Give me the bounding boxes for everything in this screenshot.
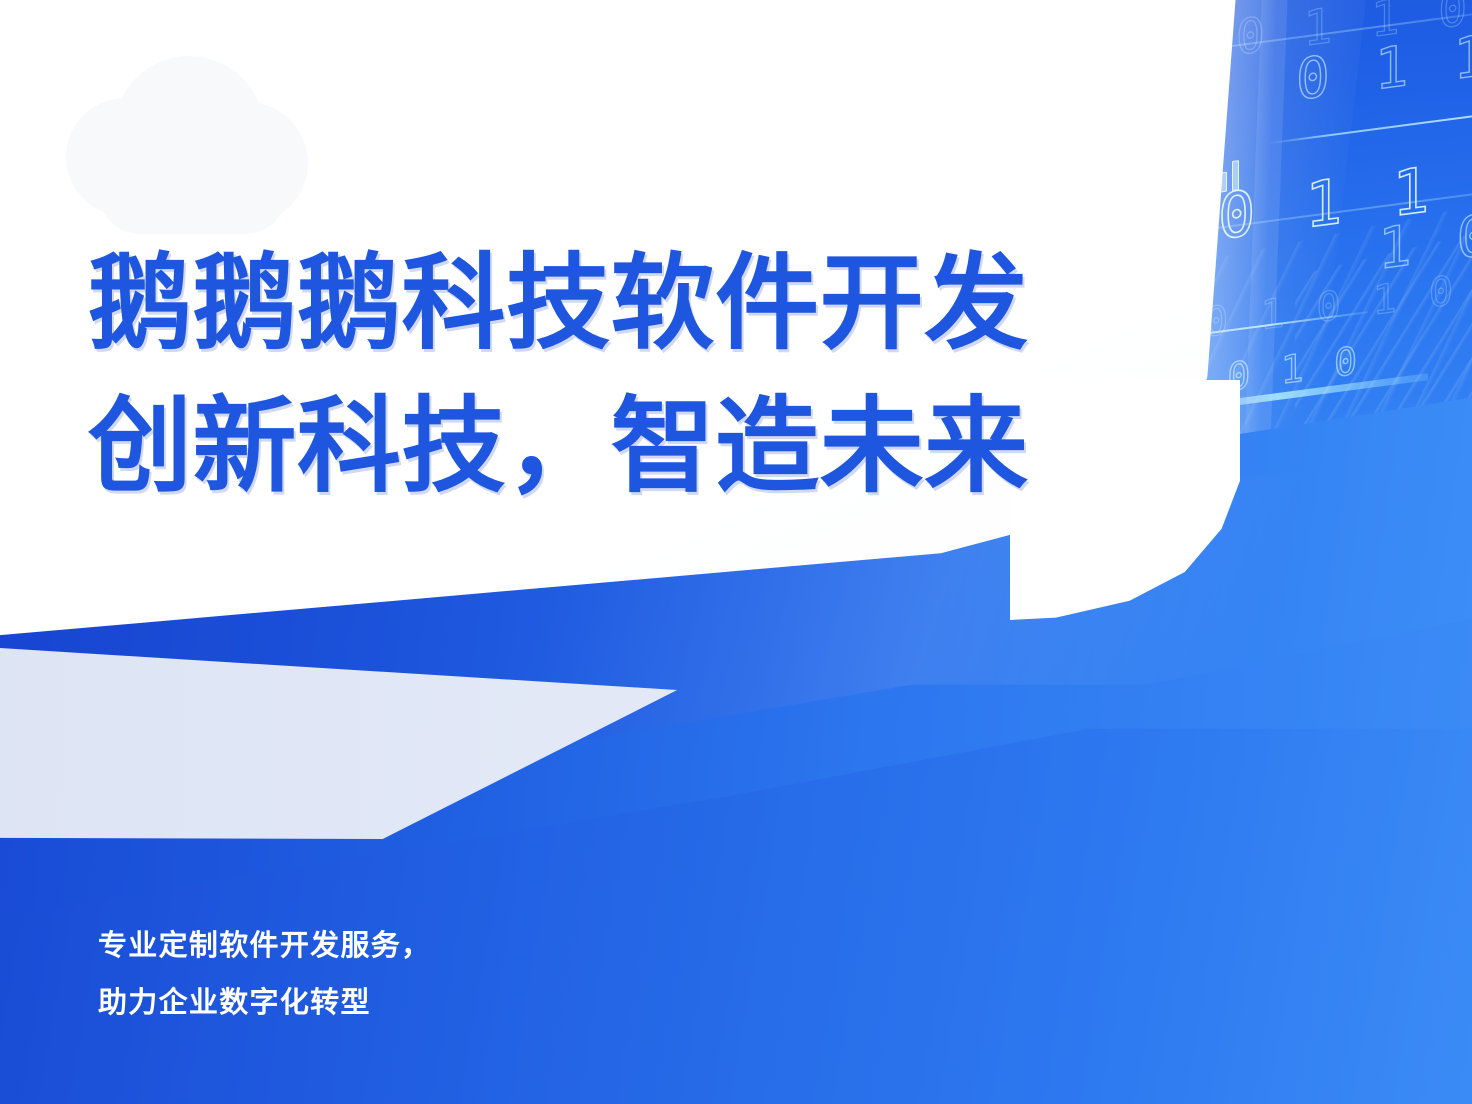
page-title: 鹅鹅鹅科技软件开发 创新科技，智造未来 — [88, 236, 1088, 517]
cloud-icon — [58, 40, 348, 255]
subtitle-line-2: 助力企业数字化转型 — [98, 975, 431, 1032]
subtitle: 专业定制软件开发服务， 助力企业数字化转型 — [98, 918, 431, 1031]
headline-line-2: 创新科技，智造未来 — [88, 379, 1088, 516]
subtitle-line-1: 专业定制软件开发服务， — [98, 918, 431, 975]
headline-line-1: 鹅鹅鹅科技软件开发 — [88, 236, 1088, 373]
poster-canvas: 0 1 1 0 0 0 0 1 0 0 1 1 0 0 1 1 1 1 1 1 … — [0, 0, 1472, 1104]
